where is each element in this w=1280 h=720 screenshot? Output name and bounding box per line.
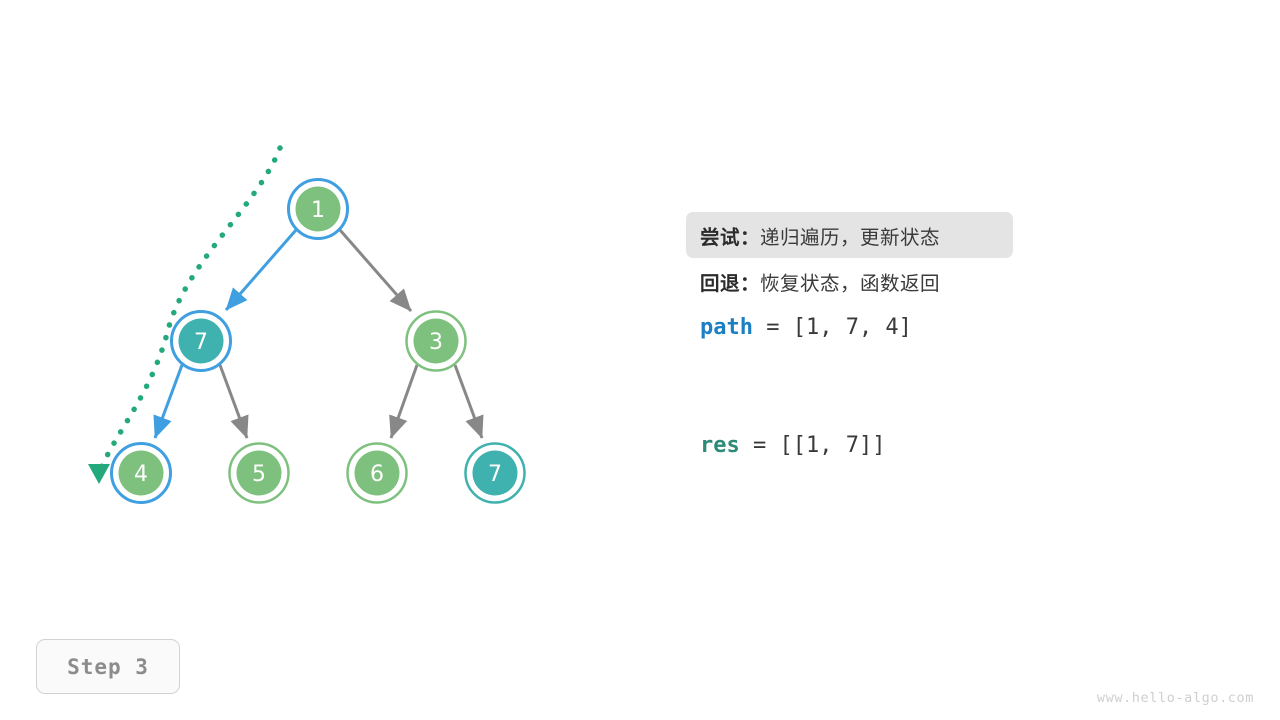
watermark: www.hello-algo.com: [1097, 690, 1254, 706]
panel-spacer: [686, 350, 1206, 422]
tree-node-1[interactable]: 1: [289, 180, 348, 239]
edge-1-to-7: [226, 230, 296, 310]
info-panel: 尝试： 递归遍历，更新状态 回退： 恢复状态，函数返回 path = [1, 7…: [686, 212, 1206, 468]
panel-row-attempt: 尝试： 递归遍历，更新状态: [686, 212, 1013, 258]
edge-7-to-4: [155, 365, 182, 438]
edge-3-to-6: [391, 365, 417, 438]
step-badge: Step 3: [36, 639, 180, 694]
traversal-cursor-triangle: [88, 464, 110, 484]
tree-node-5-label: 5: [252, 462, 266, 487]
edge-7-to-5: [220, 365, 247, 438]
tree-node-3-label: 3: [429, 330, 443, 355]
tree-node-5[interactable]: 5: [230, 444, 289, 503]
panel-row-backtrack-text: 恢复状态，函数返回: [760, 267, 940, 296]
panel-row-backtrack-label: 回退：: [700, 267, 760, 296]
variable-res-row: res = [[1, 7]]: [686, 422, 1206, 468]
variable-res-value: = [[1, 7]]: [740, 433, 886, 458]
tree-node-4[interactable]: 4: [112, 444, 171, 503]
variable-path-row: path = [1, 7, 4]: [686, 304, 1206, 350]
tree-node-7-left-label: 7: [194, 330, 208, 355]
edge-1-to-3: [340, 230, 411, 311]
panel-row-backtrack: 回退： 恢复状态，函数返回: [686, 258, 1206, 304]
edge-3-to-7b: [455, 365, 482, 438]
variable-path-value: = [1, 7, 4]: [753, 315, 912, 340]
tree-node-7-right-label: 7: [488, 462, 502, 487]
tree-node-3[interactable]: 3: [407, 312, 466, 371]
variable-res-name: res: [700, 433, 740, 458]
panel-row-attempt-text: 递归遍历，更新状态: [760, 221, 940, 250]
tree-node-4-label: 4: [134, 462, 148, 487]
tree-node-1-label: 1: [311, 198, 325, 223]
tree-node-7-right[interactable]: 7: [466, 444, 525, 503]
panel-row-attempt-label: 尝试：: [700, 221, 760, 250]
tree-node-6[interactable]: 6: [348, 444, 407, 503]
variable-path-name: path: [700, 315, 753, 340]
tree-node-6-label: 6: [370, 462, 384, 487]
tree-node-7-left[interactable]: 7: [172, 312, 231, 371]
tree-nodes: 1 7 3 4 5: [112, 180, 525, 503]
